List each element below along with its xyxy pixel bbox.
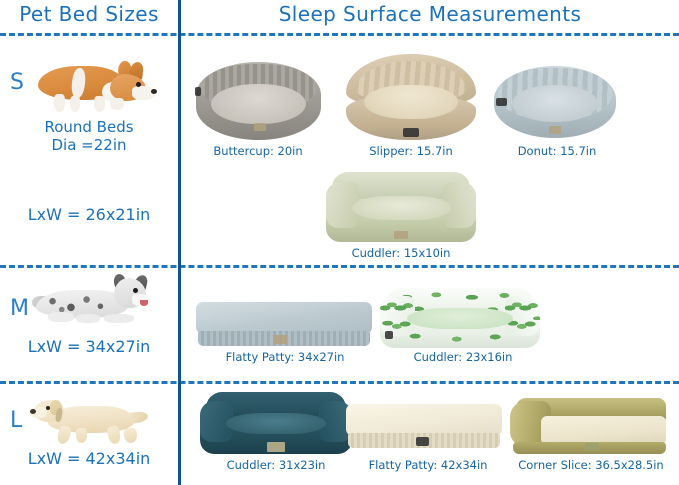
small-round-beds-label: Round Beds — [0, 118, 178, 136]
caption-slipper: Slipper: 15.7in — [341, 144, 481, 158]
buttercup-bed-image — [196, 62, 321, 140]
caption-donut: Donut: 15.7in — [487, 144, 627, 158]
divider-small-medium — [0, 265, 679, 268]
cuddler-medium-bed-image — [380, 288, 540, 348]
medium-lxw-label: LxW = 34x27in — [0, 337, 178, 356]
slipper-bed-image — [346, 54, 476, 140]
corgi-icon — [32, 58, 162, 114]
corner-slice-bed-image — [510, 398, 666, 454]
large-lxw-label: LxW = 42x34in — [0, 449, 178, 468]
caption-buttercup: Buttercup: 20in — [188, 144, 328, 158]
cuddler-large-bed-image — [200, 392, 352, 454]
caption-cuddler-medium: Cuddler: 23x16in — [388, 350, 538, 364]
small-lxw-label: LxW = 26x21in — [0, 205, 178, 224]
page-title-pet-bed-sizes: Pet Bed Sizes — [0, 2, 178, 26]
caption-cuddler-large: Cuddler: 31x23in — [196, 458, 356, 472]
size-letter-large: L — [10, 408, 22, 433]
divider-header — [0, 33, 679, 36]
donut-bed-image — [494, 66, 616, 138]
size-letter-small: S — [10, 70, 24, 95]
caption-flatty-patty-large: Flatty Patty: 42x34in — [348, 458, 508, 472]
divider-medium-large — [0, 381, 679, 384]
pet-bed-size-chart: Pet Bed Sizes Sleep Surface Measurements… — [0, 0, 679, 485]
australian-shepherd-icon — [32, 276, 164, 334]
caption-corner-slice: Corner Slice: 36.5x28.5in — [508, 458, 674, 472]
caption-flatty-patty-medium: Flatty Patty: 34x27in — [190, 350, 380, 364]
small-round-diameter-label: Dia =22in — [0, 136, 178, 154]
flatty-patty-large-bed-image — [346, 404, 502, 448]
caption-cuddler-small: Cuddler: 15x10in — [331, 246, 471, 260]
size-letter-medium: M — [10, 296, 29, 321]
flatty-patty-medium-bed-image — [196, 302, 372, 346]
labrador-icon — [30, 390, 164, 446]
page-title-sleep-surface-measurements: Sleep Surface Measurements — [181, 2, 679, 26]
divider-column — [178, 0, 181, 485]
cuddler-small-bed-image — [326, 172, 476, 242]
